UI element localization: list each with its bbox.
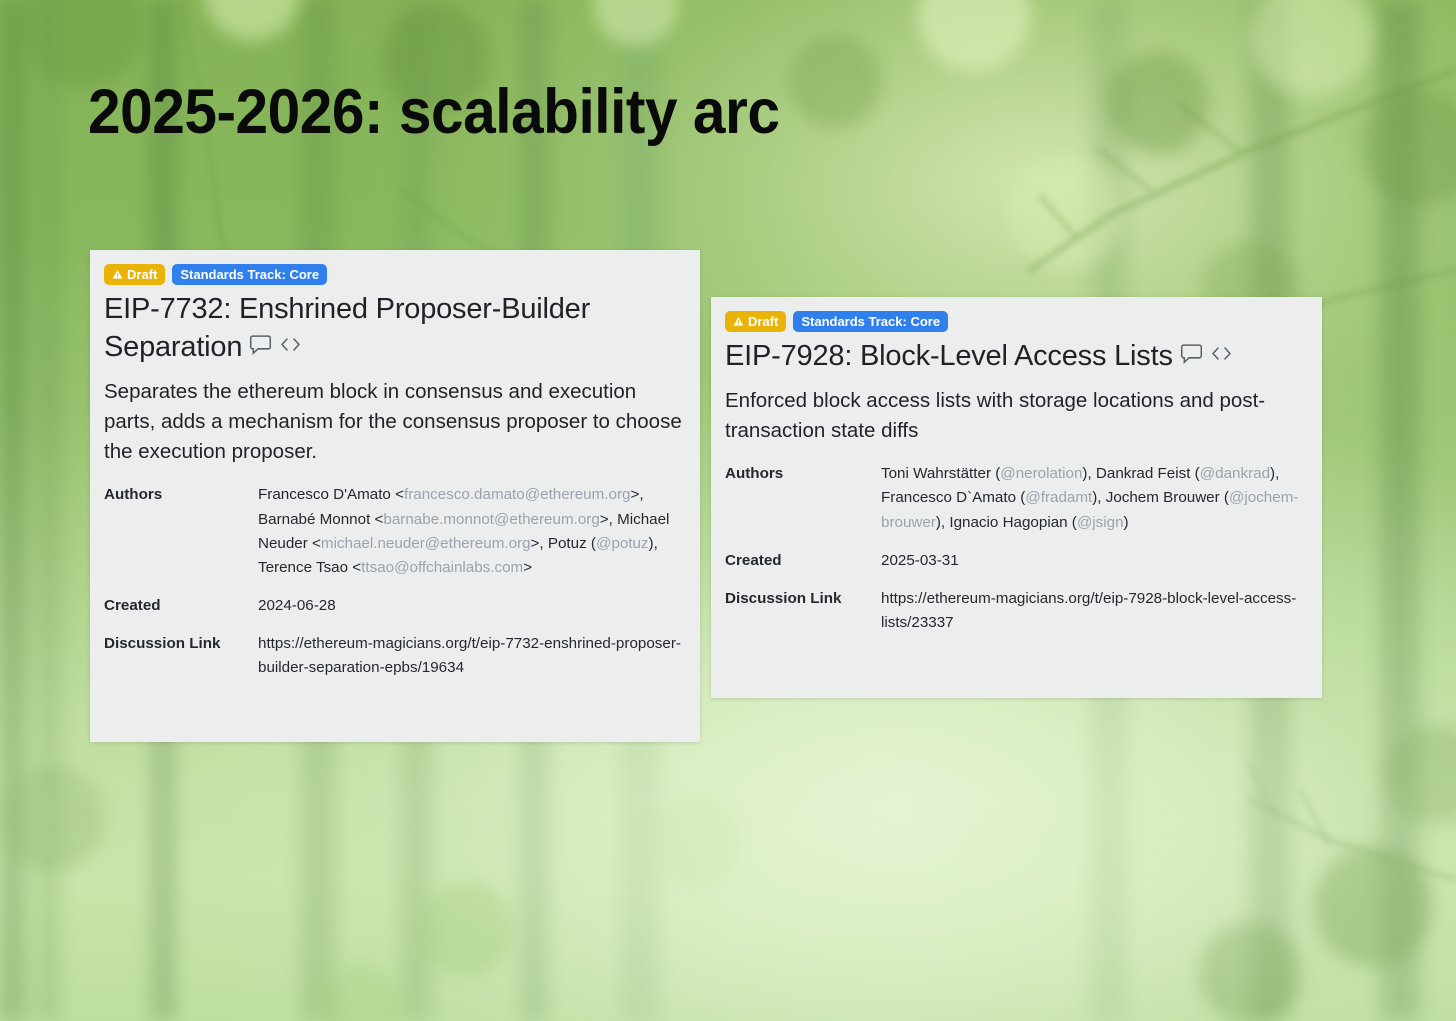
meta-key-authors: Authors	[104, 483, 258, 594]
code-icon[interactable]	[1210, 338, 1233, 376]
table-row: Created 2024-06-28	[104, 594, 684, 632]
eip-metadata-table: Authors Toni Wahrstätter (@nerolation), …	[725, 462, 1306, 635]
track-badge-label: Standards Track: Core	[180, 268, 319, 281]
meta-key-created: Created	[104, 594, 258, 632]
meta-key-authors: Authors	[725, 462, 881, 549]
table-row: Discussion Link https://ethereum-magicia…	[104, 632, 684, 680]
meta-value-discussion-link[interactable]: https://ethereum-magicians.org/t/eip-792…	[881, 587, 1306, 635]
eip-description: Separates the ethereum block in consensu…	[104, 377, 684, 467]
meta-value-authors: Toni Wahrstätter (@nerolation), Dankrad …	[881, 462, 1306, 549]
comment-icon[interactable]	[1180, 338, 1203, 376]
warning-triangle-icon	[733, 316, 744, 327]
status-badge-label: Draft	[748, 315, 778, 328]
track-badge[interactable]: Standards Track: Core	[793, 311, 948, 332]
eip-description: Enforced block access lists with storage…	[725, 386, 1306, 446]
meta-value-discussion-link[interactable]: https://ethereum-magicians.org/t/eip-773…	[258, 632, 684, 680]
table-row: Created 2025-03-31	[725, 549, 1306, 587]
warning-triangle-icon	[112, 269, 123, 280]
slide-canvas: 2025-2026: scalability arc Draft Standar…	[0, 0, 1456, 1021]
meta-key-discussion-link: Discussion Link	[104, 632, 258, 680]
status-badge-draft[interactable]: Draft	[725, 311, 786, 332]
meta-value-created: 2025-03-31	[881, 549, 1306, 587]
meta-key-created: Created	[725, 549, 881, 587]
eip-title-text: EIP-7732: Enshrined Proposer-Builder Sep…	[104, 293, 590, 363]
eip-metadata-table: Authors Francesco D'Amato <francesco.dam…	[104, 483, 684, 680]
meta-key-discussion-link: Discussion Link	[725, 587, 881, 635]
eip-title: EIP-7732: Enshrined Proposer-Builder Sep…	[104, 291, 684, 367]
badge-row: Draft Standards Track: Core	[104, 264, 684, 285]
eip-title-text: EIP-7928: Block-Level Access Lists	[725, 340, 1173, 372]
status-badge-label: Draft	[127, 268, 157, 281]
eip-card-7732[interactable]: Draft Standards Track: Core EIP-7732: En…	[90, 250, 700, 742]
table-row: Discussion Link https://ethereum-magicia…	[725, 587, 1306, 635]
meta-value-created: 2024-06-28	[258, 594, 684, 632]
page-title: 2025-2026: scalability arc	[88, 78, 779, 146]
meta-value-authors: Francesco D'Amato <francesco.damato@ethe…	[258, 483, 684, 594]
track-badge-label: Standards Track: Core	[801, 315, 940, 328]
table-row: Authors Francesco D'Amato <francesco.dam…	[104, 483, 684, 594]
track-badge[interactable]: Standards Track: Core	[172, 264, 327, 285]
code-icon[interactable]	[279, 329, 302, 367]
table-row: Authors Toni Wahrstätter (@nerolation), …	[725, 462, 1306, 549]
comment-icon[interactable]	[249, 329, 272, 367]
eip-title: EIP-7928: Block-Level Access Lists	[725, 338, 1306, 376]
badge-row: Draft Standards Track: Core	[725, 311, 1306, 332]
status-badge-draft[interactable]: Draft	[104, 264, 165, 285]
eip-card-7928[interactable]: Draft Standards Track: Core EIP-7928: Bl…	[711, 297, 1322, 698]
